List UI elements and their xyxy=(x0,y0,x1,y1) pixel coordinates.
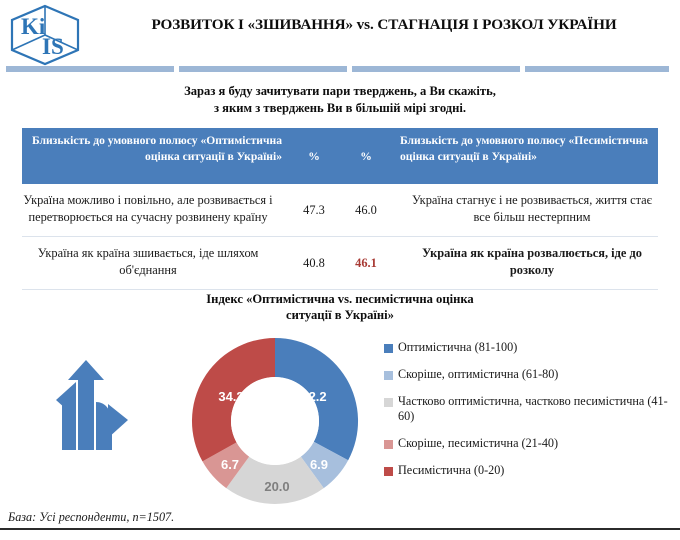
donut-label-rather-pessimistic: 6.7 xyxy=(221,457,239,472)
legend-item[interactable]: Оптимістична (81-100) xyxy=(384,340,674,355)
percent-optimistic: 40.8 xyxy=(288,237,340,289)
legend-item-label: Скоріше, оптимістична (61-80) xyxy=(398,367,558,382)
divider-segment xyxy=(525,66,669,72)
footer-rule xyxy=(0,528,680,530)
statement-pessimistic: Україна як країна розвалюється, іде до р… xyxy=(392,237,658,289)
legend-item[interactable]: Песимістична (0-20) xyxy=(384,463,674,478)
chart-legend: Оптимістична (81-100) Скоріше, оптимісти… xyxy=(384,340,674,490)
legend-swatch-icon xyxy=(384,398,393,407)
donut-label-rather-optimistic: 6.9 xyxy=(310,457,328,472)
donut-chart: 32.2 6.9 20.0 6.7 34.2 xyxy=(188,334,362,508)
legend-item-label: Песимістична (0-20) xyxy=(398,463,504,478)
statement-optimistic: Україна можливо і повільно, але розвиває… xyxy=(22,184,288,236)
question-text: Зараз я буду зачитувати пари тверджень, … xyxy=(70,83,610,117)
slide-header: Ki IS РОЗВИТОК І «ЗШИВАННЯ» vs. СТАГНАЦІ… xyxy=(0,0,680,56)
percent-optimistic: 47.3 xyxy=(288,184,340,236)
legend-swatch-icon xyxy=(384,467,393,476)
table-header-pct-right: % xyxy=(340,128,392,184)
table-header-row: Близькість до умовного полюсу «Оптимісти… xyxy=(22,128,658,184)
base-note: База: Усі респонденти, n=1507. xyxy=(8,510,174,525)
svg-text:IS: IS xyxy=(42,34,64,59)
question-line-2: з яким з тверджень Ви в більшій мірі зго… xyxy=(70,100,610,117)
legend-item[interactable]: Скоріше, оптимістична (61-80) xyxy=(384,367,674,382)
table-header-right: Близькість до умовного полюсу «Песимісти… xyxy=(392,128,658,184)
statements-table: Близькість до умовного полюсу «Оптимісти… xyxy=(22,128,658,290)
three-way-arrows-icon xyxy=(34,358,138,450)
table-header-left: Близькість до умовного полюсу «Оптимісти… xyxy=(22,128,288,184)
divider-segment xyxy=(6,66,174,72)
legend-item[interactable]: Частково оптимістична, частково песиміст… xyxy=(384,394,674,424)
donut-label-optimistic: 32.2 xyxy=(301,389,326,404)
percent-pessimistic: 46.1 xyxy=(340,237,392,289)
chart-title-line-1: Індекс «Оптимістична vs. песимістична оц… xyxy=(120,291,560,307)
divider-segment xyxy=(352,66,520,72)
divider-segment xyxy=(179,66,347,72)
legend-swatch-icon xyxy=(384,344,393,353)
page-title: РОЗВИТОК І «ЗШИВАННЯ» vs. СТАГНАЦІЯ І РО… xyxy=(96,16,672,34)
question-line-1: Зараз я буду зачитувати пари тверджень, … xyxy=(70,83,610,100)
legend-swatch-icon xyxy=(384,440,393,449)
header-divider-bar xyxy=(6,66,674,72)
legend-item[interactable]: Скоріше, песимістична (21-40) xyxy=(384,436,674,451)
kiis-cube-logo: Ki IS xyxy=(8,4,82,66)
legend-swatch-icon xyxy=(384,371,393,380)
table-row: Україна як країна зшивається, іде шляхом… xyxy=(22,237,658,290)
statement-optimistic: Україна як країна зшивається, іде шляхом… xyxy=(22,237,288,289)
donut-label-pessimistic: 34.2 xyxy=(218,389,243,404)
percent-pessimistic: 46.0 xyxy=(340,184,392,236)
chart-title-line-2: ситуації в Україні» xyxy=(120,307,560,323)
legend-item-label: Оптимістична (81-100) xyxy=(398,340,517,355)
legend-item-label: Частково оптимістична, частково песиміст… xyxy=(398,394,674,424)
table-row: Україна можливо і повільно, але розвиває… xyxy=(22,184,658,237)
statement-pessimistic: Україна стагнує і не розвивається, життя… xyxy=(392,184,658,236)
donut-label-partly: 20.0 xyxy=(264,479,289,494)
chart-title: Індекс «Оптимістична vs. песимістична оц… xyxy=(120,291,560,323)
table-header-pct-left: % xyxy=(288,128,340,184)
legend-item-label: Скоріше, песимістична (21-40) xyxy=(398,436,558,451)
